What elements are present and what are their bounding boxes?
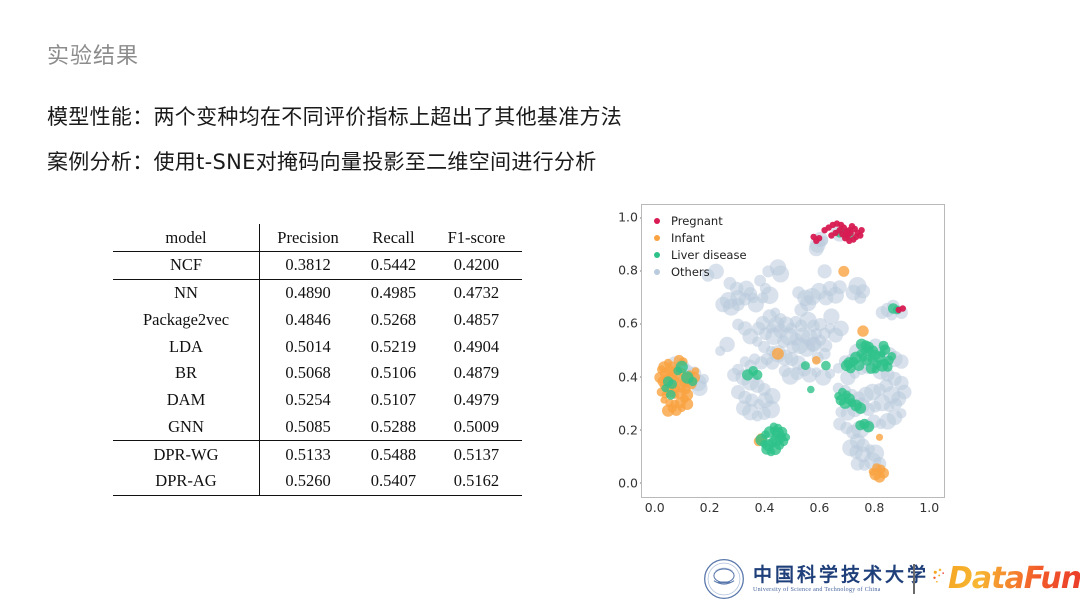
column-header-recall: Recall — [356, 224, 431, 251]
legend-item-pregnant[interactable]: Pregnant — [654, 213, 747, 229]
y-tick-label: 0.2 — [598, 422, 638, 437]
x-tick-label: 0.4 — [745, 500, 785, 515]
cell-f1: 0.5137 — [431, 441, 522, 468]
datafun-wordmark: DataFun. — [948, 564, 1080, 594]
cell-recall: 0.5288 — [356, 413, 431, 440]
legend-swatch-icon — [654, 269, 660, 275]
cell-precision: 0.4846 — [260, 306, 357, 333]
bullet-line-case-analysis: 案例分析：使用t-SNE对掩码向量投影至二维空间进行分析 — [47, 146, 597, 176]
plot-area: PregnantInfantLiver diseaseOthers — [641, 204, 945, 498]
cell-model: DAM — [113, 387, 260, 414]
ustc-seal-icon — [703, 558, 745, 600]
cell-f1: 0.4904 — [431, 333, 522, 360]
cell-recall: 0.5442 — [356, 251, 431, 279]
cell-model: NN — [113, 279, 260, 306]
legend-label: Liver disease — [671, 248, 747, 262]
university-name-cn: 中国科学技术大学 — [753, 565, 929, 586]
cell-model: Package2vec — [113, 306, 260, 333]
chart-legend: PregnantInfantLiver diseaseOthers — [654, 213, 747, 281]
cell-recall: 0.5268 — [356, 306, 431, 333]
cell-recall: 0.5106 — [356, 360, 431, 387]
ustc-logo: 中国科学技术大学 University of Science and Techn… — [703, 558, 929, 600]
university-name-en: University of Science and Technology of … — [753, 587, 929, 593]
x-tick-label: 0.2 — [690, 500, 730, 515]
legend-item-infant[interactable]: Infant — [654, 230, 747, 246]
y-tick-label: 0.0 — [598, 475, 638, 490]
cell-model: LDA — [113, 333, 260, 360]
column-header-model: model — [113, 224, 260, 251]
cell-model: NCF — [113, 251, 260, 279]
datafun-logo: DataFun. — [932, 564, 1080, 594]
cell-f1: 0.4879 — [431, 360, 522, 387]
cell-precision: 0.5254 — [260, 387, 357, 414]
results-table: model Precision Recall F1-score NCF0.381… — [113, 224, 522, 496]
cell-recall: 0.5488 — [356, 441, 431, 468]
table-row: GNN0.50850.52880.5009 — [113, 413, 522, 440]
cell-model: GNN — [113, 413, 260, 440]
y-tick-label: 0.8 — [598, 263, 638, 278]
y-tick-label: 0.4 — [598, 369, 638, 384]
cell-model: BR — [113, 360, 260, 387]
y-tick-label: 0.6 — [598, 316, 638, 331]
cell-model: DPR-WG — [113, 441, 260, 468]
cell-f1: 0.5009 — [431, 413, 522, 440]
cell-f1: 0.4200 — [431, 251, 522, 279]
cell-recall: 0.4985 — [356, 279, 431, 306]
cell-precision: 0.5014 — [260, 333, 357, 360]
cell-recall: 0.5219 — [356, 333, 431, 360]
table-row: NCF0.38120.54420.4200 — [113, 251, 522, 279]
x-tick-label: 0.0 — [635, 500, 675, 515]
legend-label: Others — [671, 265, 710, 279]
x-tick-label: 1.0 — [909, 500, 949, 515]
cell-precision: 0.5085 — [260, 413, 357, 440]
table-row: LDA0.50140.52190.4904 — [113, 333, 522, 360]
cell-precision: 0.5133 — [260, 441, 357, 468]
cell-recall: 0.5407 — [356, 468, 431, 495]
page-title: 实验结果 — [47, 38, 139, 70]
slide-canvas: 实验结果 模型性能：两个变种均在不同评价指标上超出了其他基准方法 案例分析：使用… — [0, 0, 1080, 608]
legend-label: Pregnant — [671, 214, 723, 228]
legend-swatch-icon — [654, 235, 660, 241]
cell-f1: 0.4857 — [431, 306, 522, 333]
y-tick-label: 1.0 — [598, 210, 638, 225]
table-row: NN0.48900.49850.4732 — [113, 279, 522, 306]
cell-precision: 0.5260 — [260, 468, 357, 495]
column-header-f1: F1-score — [431, 224, 522, 251]
table-row: DAM0.52540.51070.4979 — [113, 387, 522, 414]
ustc-text-block: 中国科学技术大学 University of Science and Techn… — [753, 565, 929, 594]
cell-recall: 0.5107 — [356, 387, 431, 414]
cell-model: DPR-AG — [113, 468, 260, 495]
column-header-precision: Precision — [260, 224, 357, 251]
tsne-scatter-figure: 0.00.20.40.60.81.0 0.00.20.40.60.81.0 Pr… — [582, 196, 962, 530]
table-row: Package2vec0.48460.52680.4857 — [113, 306, 522, 333]
table-row: DPR-AG0.52600.54070.5162 — [113, 468, 522, 495]
cell-f1: 0.5162 — [431, 468, 522, 495]
table-row: DPR-WG0.51330.54880.5137 — [113, 441, 522, 468]
table-header-row: model Precision Recall F1-score — [113, 224, 522, 251]
legend-item-others[interactable]: Others — [654, 264, 747, 280]
legend-label: Infant — [671, 231, 705, 245]
legend-swatch-icon — [654, 252, 660, 258]
table-row: BR0.50680.51060.4879 — [113, 360, 522, 387]
cell-precision: 0.5068 — [260, 360, 357, 387]
legend-item-liver-disease[interactable]: Liver disease — [654, 247, 747, 263]
cell-f1: 0.4979 — [431, 387, 522, 414]
datafun-sparkle-icon — [932, 566, 948, 588]
cell-f1: 0.4732 — [431, 279, 522, 306]
footer-divider — [913, 564, 915, 594]
cell-precision: 0.3812 — [260, 251, 357, 279]
x-tick-label: 0.8 — [854, 500, 894, 515]
legend-swatch-icon — [654, 218, 660, 224]
bullet-line-model-performance: 模型性能：两个变种均在不同评价指标上超出了其他基准方法 — [47, 101, 622, 131]
cell-precision: 0.4890 — [260, 279, 357, 306]
footer: 中国科学技术大学 University of Science and Techn… — [0, 550, 1080, 608]
x-tick-label: 0.6 — [799, 500, 839, 515]
